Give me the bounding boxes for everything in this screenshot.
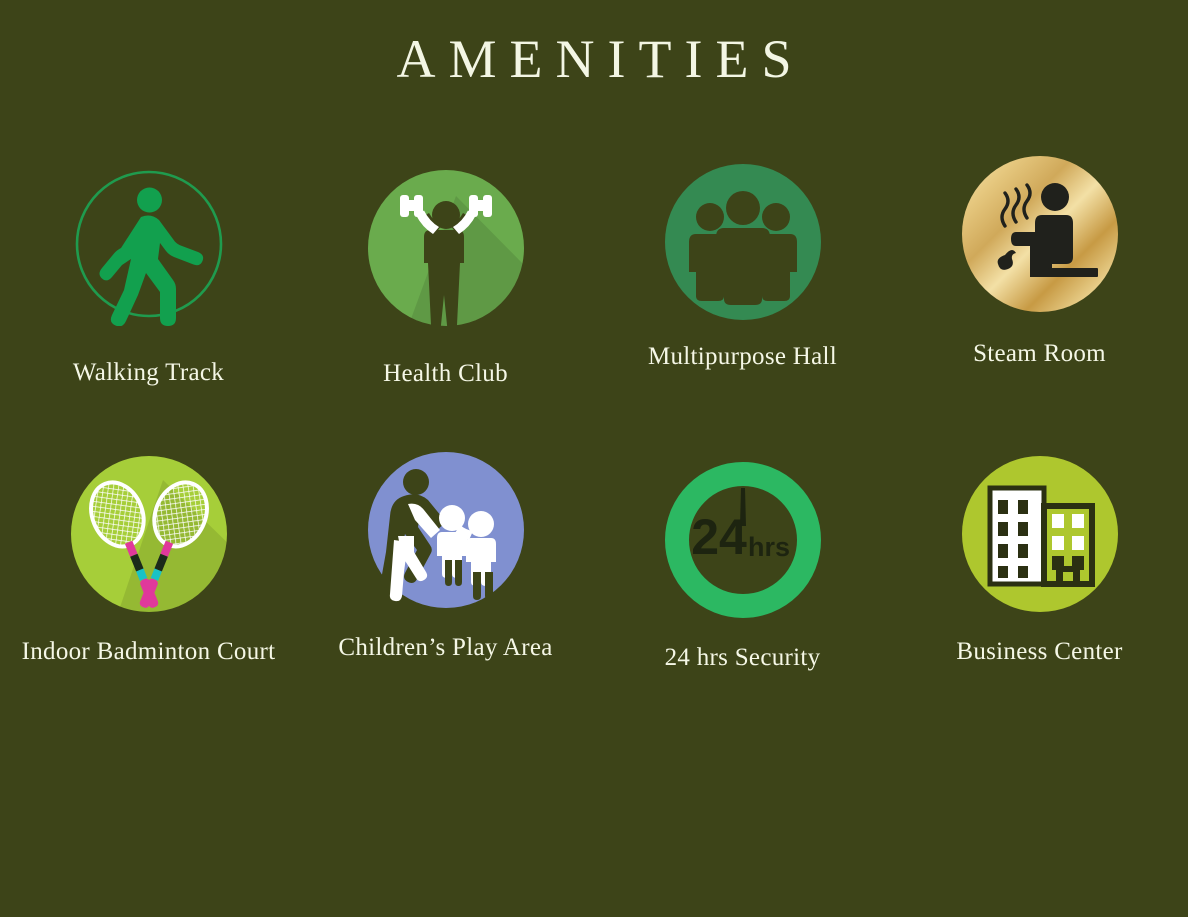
children-playing-icon bbox=[364, 448, 528, 612]
amenity-item-steam-room[interactable]: Steam Room bbox=[891, 140, 1188, 440]
people-group-icon bbox=[661, 160, 825, 324]
amenity-label: Walking Track bbox=[19, 357, 279, 389]
page-title: AMENITIES bbox=[0, 30, 1188, 89]
amenity-item-multipurpose-hall[interactable]: Multipurpose Hall bbox=[594, 140, 891, 440]
sauna-steam-icon bbox=[958, 152, 1122, 316]
amenities-grid: Walking Track bbox=[0, 140, 1188, 740]
amenity-label: Multipurpose Hall bbox=[613, 341, 873, 373]
badminton-rackets-icon bbox=[67, 452, 231, 616]
clock-hrs-text: hrs bbox=[747, 532, 789, 562]
amenity-item-24hrs-security[interactable]: 24 hrs 24 hrs Security bbox=[594, 440, 891, 740]
amenity-item-business-center[interactable]: Business Center bbox=[891, 440, 1188, 740]
amenity-item-childrens-play-area[interactable]: Children’s Play Area bbox=[297, 440, 594, 740]
clock-24-text: 24 bbox=[691, 509, 747, 565]
clock-24hrs-icon: 24 hrs bbox=[661, 458, 825, 622]
amenity-label: Health Club bbox=[316, 358, 576, 390]
amenity-label: Steam Room bbox=[910, 338, 1170, 370]
walking-person-icon bbox=[67, 162, 231, 326]
amenity-label: Indoor Badminton Court bbox=[19, 636, 279, 668]
amenity-item-walking-track[interactable]: Walking Track bbox=[0, 140, 297, 440]
amenity-label: Business Center bbox=[910, 636, 1170, 668]
amenity-item-indoor-badminton-court[interactable]: Indoor Badminton Court bbox=[0, 440, 297, 740]
amenity-item-health-club[interactable]: Health Club bbox=[297, 140, 594, 440]
office-buildings-icon bbox=[958, 452, 1122, 616]
weightlifter-icon bbox=[364, 166, 528, 330]
amenity-label: Children’s Play Area bbox=[316, 632, 576, 664]
amenity-label: 24 hrs Security bbox=[613, 642, 873, 674]
